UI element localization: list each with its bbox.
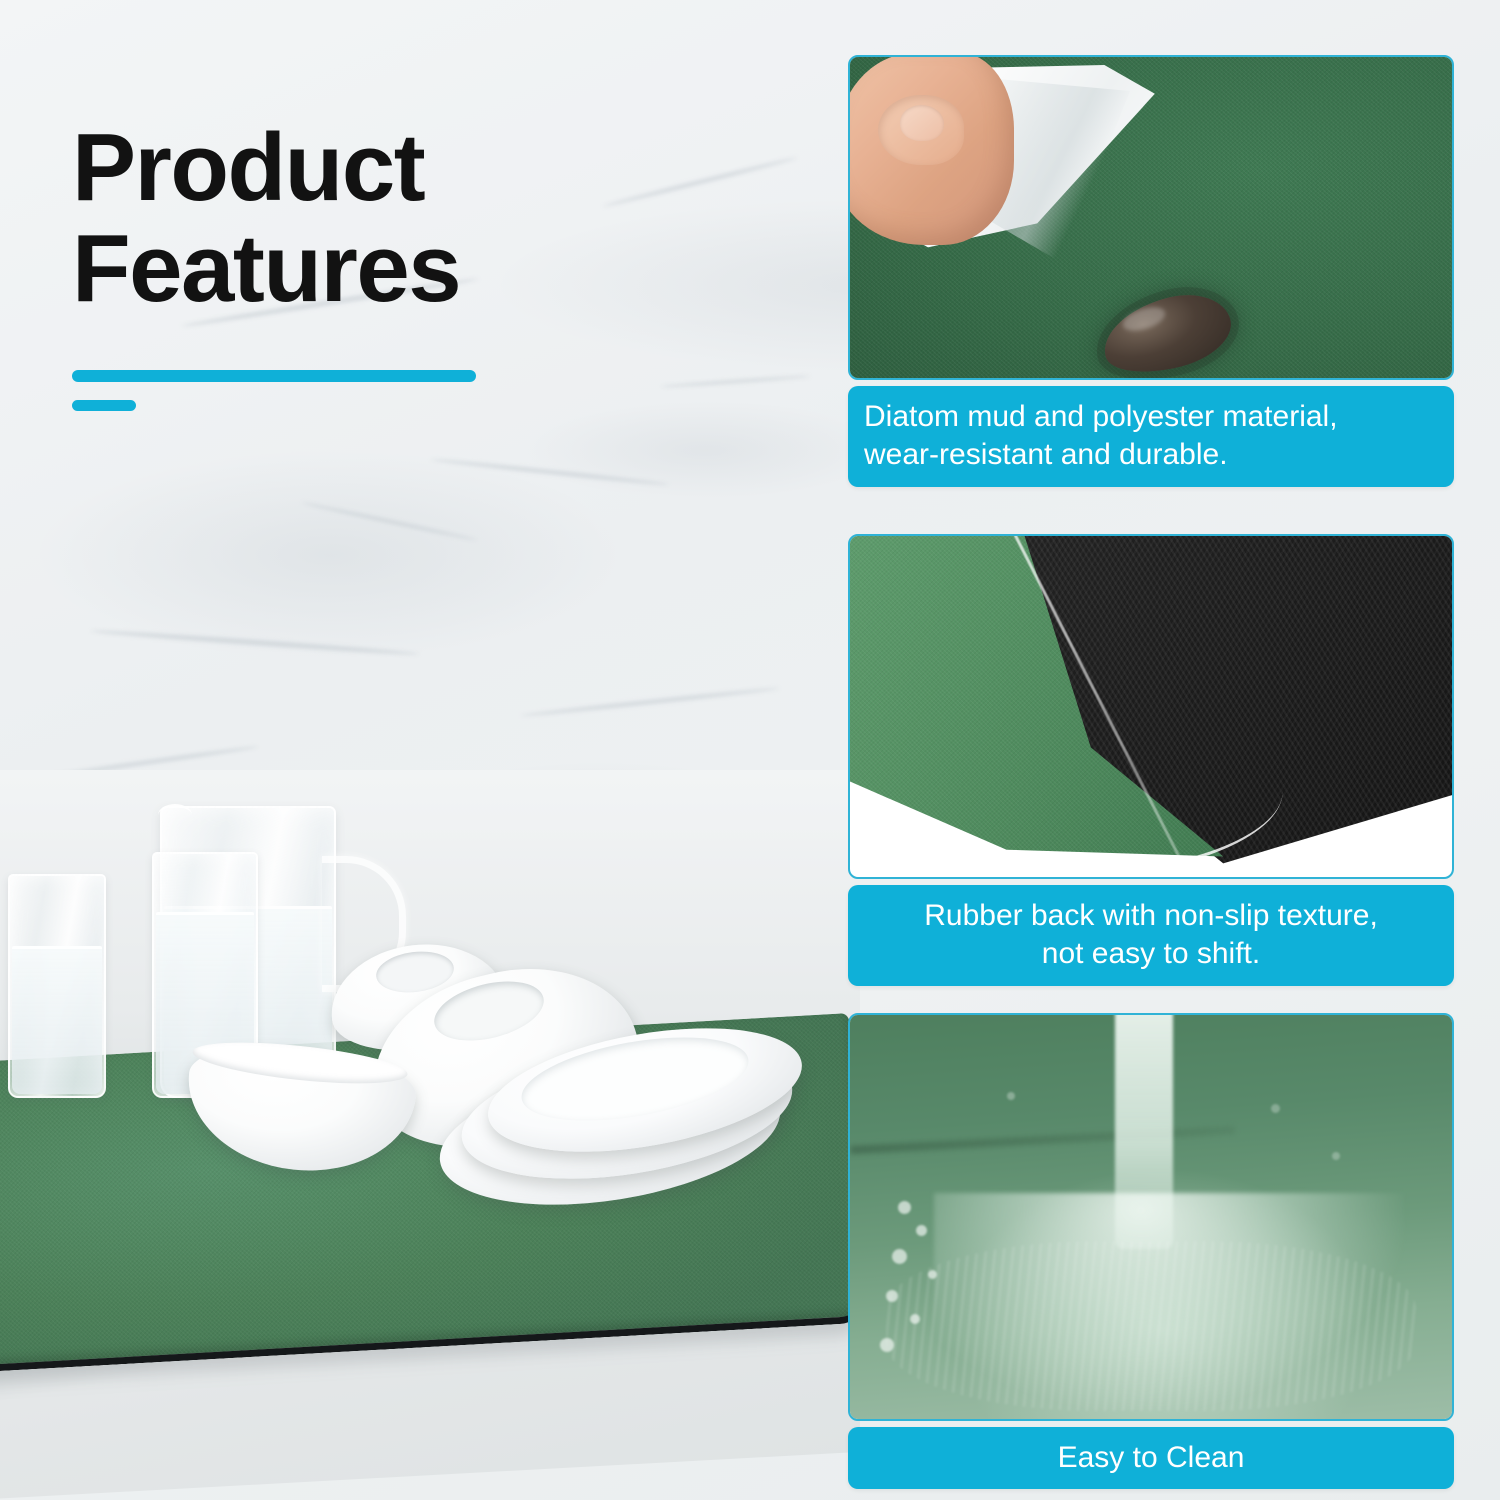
feature-caption-easy-clean: Easy to Clean	[848, 1427, 1454, 1489]
feature-panel-material: Diatom mud and polyester material, wear-…	[848, 55, 1454, 487]
feature-panel-easy-clean: Easy to Clean	[848, 1013, 1454, 1489]
feature-image-material	[848, 55, 1454, 380]
product-photo	[0, 770, 860, 1500]
feature-image-rubber-back	[848, 534, 1454, 879]
feature-image-easy-clean	[848, 1013, 1454, 1421]
thumbnail	[900, 105, 944, 141]
feature-caption-material: Diatom mud and polyester material, wear-…	[848, 386, 1454, 487]
water-flow-streaks	[886, 1241, 1416, 1411]
feature-panel-rubber-back: Rubber back with non-slip texture, not e…	[848, 534, 1454, 986]
drinking-glass-left	[8, 874, 106, 1098]
title-block: Product Features	[72, 118, 460, 320]
page-title: Product Features	[72, 118, 460, 320]
feature-caption-rubber-back: Rubber back with non-slip texture, not e…	[848, 885, 1454, 986]
accent-bar-long	[72, 370, 476, 382]
pitcher-spout	[158, 804, 192, 826]
accent-bar-short	[72, 400, 136, 411]
